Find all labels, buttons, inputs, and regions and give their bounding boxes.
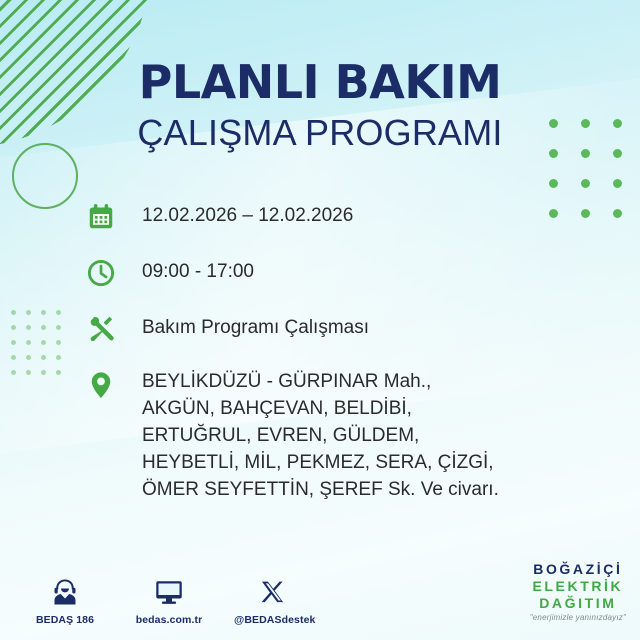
work-type-text: Bakım Programı Çalışması: [120, 312, 369, 342]
monitor-website-icon: [130, 573, 208, 607]
clock-icon: [86, 256, 120, 290]
calendar-icon: [86, 200, 120, 234]
contact-label-website: bedas.com.tr: [130, 614, 208, 626]
planned-maintenance-poster: PLANLI BAKIM ÇALIŞMA PROGRAMI: [0, 0, 640, 640]
brand-tagline: "enerjimizle yanınızdayız": [530, 614, 626, 622]
dot-grid-left-decoration: [11, 310, 71, 385]
contact-item-website[interactable]: bedas.com.tr: [130, 573, 208, 626]
contact-item-phone[interactable]: BEDAŞ 186: [26, 573, 104, 626]
bedas-logo: BOĞAZİÇİ ELEKTRİK DAĞITIM "enerjimizle y…: [530, 562, 626, 622]
contact-label-social: @BEDASdestek: [234, 614, 312, 626]
brand-line-dagitim: DAĞITIM: [530, 596, 626, 610]
tools-icon: [86, 312, 120, 346]
date-range-text: 12.02.2026 – 12.02.2026: [120, 200, 353, 230]
info-row-address: BEYLİKDÜZÜ - GÜRPINAR Mah., AKGÜN, BAHÇE…: [86, 368, 606, 504]
contact-item-social[interactable]: @BEDASdestek: [234, 573, 312, 626]
contact-label-phone: BEDAŞ 186: [26, 614, 104, 626]
headset-support-icon: [26, 573, 104, 607]
info-row-date: 12.02.2026 – 12.02.2026: [86, 200, 606, 234]
info-list: 12.02.2026 – 12.02.2026 09:00 - 17:00: [86, 200, 606, 504]
info-row-time: 09:00 - 17:00: [86, 256, 606, 290]
address-text: BEYLİKDÜZÜ - GÜRPINAR Mah., AKGÜN, BAHÇE…: [120, 368, 499, 504]
x-twitter-icon: [234, 573, 312, 607]
page-title: PLANLI BAKIM: [0, 58, 640, 106]
brand-line-bogazici: BOĞAZİÇİ: [530, 562, 626, 576]
brand-line-elektrik: ELEKTRİK: [530, 579, 626, 593]
location-pin-icon: [86, 368, 120, 404]
page-subtitle: ÇALIŞMA PROGRAMI: [0, 112, 640, 153]
poster-footer: BEDAŞ 186 bedas.com.tr: [0, 554, 640, 640]
poster-header: PLANLI BAKIM ÇALIŞMA PROGRAMI: [0, 58, 640, 154]
contact-list: BEDAŞ 186 bedas.com.tr: [26, 573, 312, 626]
info-row-work-type: Bakım Programı Çalışması: [86, 312, 606, 346]
time-range-text: 09:00 - 17:00: [120, 256, 254, 286]
